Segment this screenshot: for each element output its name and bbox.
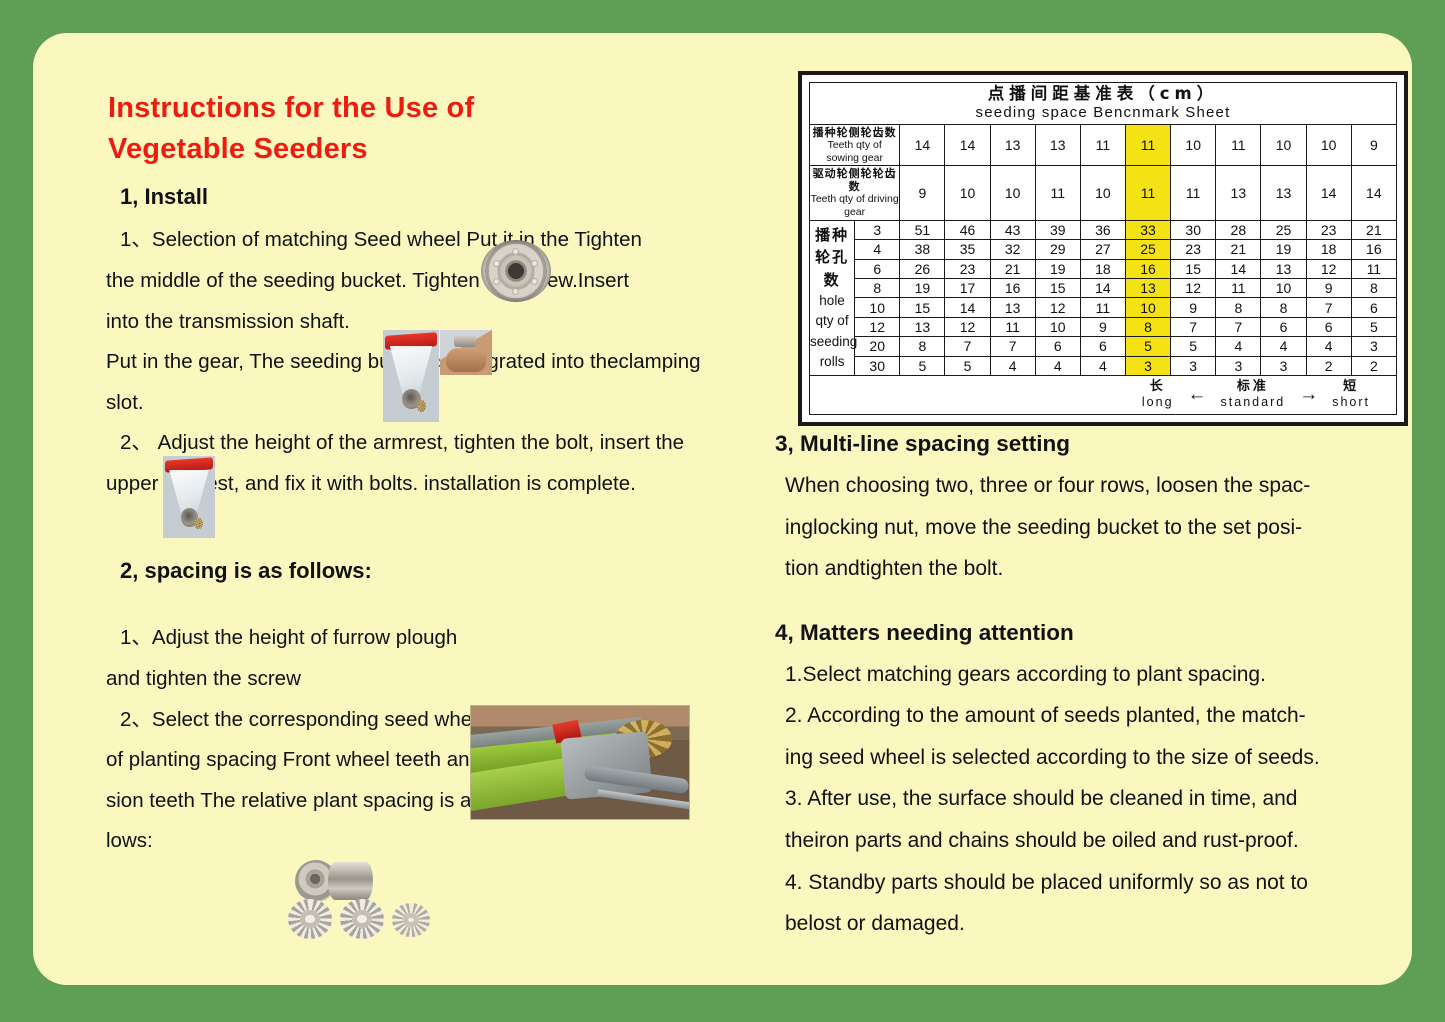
- table-row-label: 播种轮侧轮齿数Teeth qty of sowing gear: [810, 125, 900, 166]
- table-row: 62623211918161514131211: [810, 259, 1397, 278]
- seeding-space-benchmark-table: 点播间距基准表（cm）seeding space Bencnmark Sheet…: [798, 71, 1408, 426]
- table-cell: 26: [900, 259, 945, 278]
- furrow-plough-machine-photo: [470, 705, 690, 820]
- table-cell: 33: [1125, 220, 1170, 239]
- table-footer-row: 长long←标准standard→短short: [810, 376, 1397, 415]
- table-cell: 23: [945, 259, 990, 278]
- attention-line-6: 4. Standby parts should be placed unifor…: [785, 862, 1435, 904]
- legend-standard-cn: 标准: [1221, 380, 1286, 395]
- table-row: 播种轮孔数hole qty of seeding rolls3514643393…: [810, 220, 1397, 239]
- table-row-key: 8: [855, 278, 900, 297]
- table-cell: 23: [1171, 240, 1216, 259]
- table-cell: 25: [1125, 240, 1170, 259]
- table-cell: 18: [1080, 259, 1125, 278]
- table-cell: 8: [1125, 317, 1170, 336]
- table-cell: 10: [1261, 278, 1306, 297]
- table-cell: 11: [1216, 278, 1261, 297]
- table-title-cn: 点播间距基准表（cm）: [810, 84, 1396, 105]
- table-cell: 10: [1080, 165, 1125, 220]
- table-cell: 15: [1171, 259, 1216, 278]
- table-cell: 7: [1216, 317, 1261, 336]
- table-cell: 8: [1261, 298, 1306, 317]
- table-cell: 3: [1216, 356, 1261, 375]
- table-cell: 7: [990, 337, 1035, 356]
- table-cell: 13: [1216, 165, 1261, 220]
- attention-line-1: 1.Select matching gears according to pla…: [785, 654, 1435, 696]
- benchmark-table: 点播间距基准表（cm）seeding space Bencnmark Sheet…: [809, 82, 1397, 415]
- table-cell: 27: [1080, 240, 1125, 259]
- table-cell: 7: [1306, 298, 1351, 317]
- table-row: 1015141312111098876: [810, 298, 1397, 317]
- table-cell: 7: [945, 337, 990, 356]
- seeding-bucket-photo-1: [383, 330, 439, 422]
- table-cell: 6: [1351, 298, 1396, 317]
- table-cell: 5: [1171, 337, 1216, 356]
- table-cell: 6: [1306, 317, 1351, 336]
- table-cell: 29: [1035, 240, 1080, 259]
- table-cell: 21: [1216, 240, 1261, 259]
- table-cell: 12: [1035, 298, 1080, 317]
- table-cell: 6: [1080, 337, 1125, 356]
- attention-body: 1.Select matching gears according to pla…: [785, 654, 1435, 945]
- table-cell: 14: [945, 298, 990, 317]
- sprocket-gears-photo: [288, 899, 448, 939]
- table-cell: 4: [1080, 356, 1125, 375]
- table-row-key: 3: [855, 220, 900, 239]
- table-cell: 11: [1080, 125, 1125, 166]
- table-cell: 16: [1125, 259, 1170, 278]
- table-cell: 2: [1351, 356, 1396, 375]
- table-cell: 51: [900, 220, 945, 239]
- sprocket-icon: [392, 903, 430, 937]
- table-cell: 10: [1306, 125, 1351, 166]
- table-cell: 3: [1351, 337, 1396, 356]
- table-cell: 10: [1035, 317, 1080, 336]
- right-arrow-icon: →: [1295, 385, 1322, 404]
- table-cell: 36: [1080, 220, 1125, 239]
- hand-tightening-screw-photo: [440, 330, 492, 375]
- table-cell: 14: [945, 125, 990, 166]
- spacing-line-2: and tighten the screw: [106, 659, 750, 700]
- table-cell: 6: [1261, 317, 1306, 336]
- table-cell: 11: [1035, 165, 1080, 220]
- section-heading-multiline: 3, Multi-line spacing setting: [775, 431, 1435, 457]
- table-cell: 13: [900, 317, 945, 336]
- table-title-en: seeding space Bencnmark Sheet: [810, 104, 1396, 123]
- table-row-key: 10: [855, 298, 900, 317]
- table-cell: 14: [1080, 278, 1125, 297]
- table-cell: 4: [1035, 356, 1080, 375]
- table-cell: 6: [1035, 337, 1080, 356]
- table-cell: 9: [900, 165, 945, 220]
- table-footer-cell: 长long←标准standard→短short: [810, 376, 1397, 415]
- table-cell: 11: [1080, 298, 1125, 317]
- table-row-label: 驱动轮侧轮轮齿数Teeth qty of driving gear: [810, 165, 900, 220]
- table-row: 43835322927252321191816: [810, 240, 1397, 259]
- table-cell: 13: [1125, 278, 1170, 297]
- attention-line-2: 2. According to the amount of seeds plan…: [785, 695, 1435, 737]
- table-cell: 15: [1035, 278, 1080, 297]
- attention-line-3: ing seed wheel is selected according to …: [785, 737, 1435, 779]
- table-cell: 3: [1125, 356, 1170, 375]
- row-label-en: Teeth qty of sowing gear: [810, 139, 899, 164]
- table-cell: 2: [1306, 356, 1351, 375]
- multiline-line-1: When choosing two, three or four rows, l…: [785, 465, 1435, 507]
- table-row-key: 12: [855, 317, 900, 336]
- section-heading-attention: 4, Matters needing attention: [775, 620, 1435, 646]
- sprocket-icon: [288, 899, 332, 939]
- table-cell: 10: [1125, 298, 1170, 317]
- table-cell: 5: [1125, 337, 1170, 356]
- table-cell: 35: [945, 240, 990, 259]
- table-cell: 5: [900, 356, 945, 375]
- spacing-line-6: lows:: [106, 821, 750, 862]
- table-cell: 8: [900, 337, 945, 356]
- table-header-row: 驱动轮侧轮轮齿数Teeth qty of driving gear9101011…: [810, 165, 1397, 220]
- legend-long-cn: 长: [1142, 380, 1174, 395]
- table-cell: 8: [1351, 278, 1396, 297]
- table-cell: 39: [1035, 220, 1080, 239]
- seeding-bucket-photo-2: [163, 456, 215, 538]
- table-cell: 9: [1080, 317, 1125, 336]
- table-cell: 10: [1261, 125, 1306, 166]
- table-cell: 46: [945, 220, 990, 239]
- table-cell: 15: [900, 298, 945, 317]
- table-row: 3055444333322: [810, 356, 1397, 375]
- section-heading-spacing: 2, spacing is as follows:: [120, 558, 750, 584]
- row-label-cn: 驱动轮侧轮轮齿数: [810, 167, 899, 193]
- table-cell: 10: [990, 165, 1035, 220]
- table-row: 2087766554443: [810, 337, 1397, 356]
- table-cell: 10: [945, 165, 990, 220]
- attention-line-7: belost or damaged.: [785, 903, 1435, 945]
- table-cell: 12: [1306, 259, 1351, 278]
- table-cell: 21: [990, 259, 1035, 278]
- table-cell: 16: [990, 278, 1035, 297]
- row-label-cn: 播种轮侧轮齿数: [810, 126, 899, 139]
- multiline-line-2: inglocking nut, move the seeding bucket …: [785, 507, 1435, 549]
- spacing-line-1: 1、Adjust the height of furrow plough: [106, 618, 750, 659]
- table-cell: 16: [1351, 240, 1396, 259]
- table-cell: 11: [1171, 165, 1216, 220]
- seed-wheel-roller-photo: [295, 859, 373, 903]
- legend-long: 长long: [1142, 380, 1174, 409]
- table-cell: 30: [1171, 220, 1216, 239]
- table-cell: 23: [1306, 220, 1351, 239]
- table-cell: 18: [1306, 240, 1351, 259]
- table-cell: 4: [1216, 337, 1261, 356]
- multiline-body: When choosing two, three or four rows, l…: [785, 465, 1435, 590]
- table-row-key: 20: [855, 337, 900, 356]
- side-label-cn: 播种轮孔数: [810, 224, 854, 292]
- table-cell: 19: [1035, 259, 1080, 278]
- legend-standard: 标准standard: [1221, 380, 1286, 409]
- table-cell: 10: [1171, 125, 1216, 166]
- table-cell: 11: [1216, 125, 1261, 166]
- table-cell: 13: [990, 298, 1035, 317]
- table-cell: 13: [1261, 259, 1306, 278]
- attention-line-4: 3. After use, the surface should be clea…: [785, 778, 1435, 820]
- table-cell: 13: [1035, 125, 1080, 166]
- table-cell: 19: [1261, 240, 1306, 259]
- table-cell: 13: [1261, 165, 1306, 220]
- table-cell: 11: [1351, 259, 1396, 278]
- table-cell: 19: [900, 278, 945, 297]
- table-cell: 21: [1351, 220, 1396, 239]
- table-row: 12131211109877665: [810, 317, 1397, 336]
- table-row-key: 30: [855, 356, 900, 375]
- table-cell: 3: [1171, 356, 1216, 375]
- table-cell: 5: [1351, 317, 1396, 336]
- table-row-key: 4: [855, 240, 900, 259]
- table-cell: 5: [945, 356, 990, 375]
- legend-short: 短short: [1332, 380, 1370, 409]
- table-cell: 3: [1261, 356, 1306, 375]
- table-side-label: 播种轮孔数hole qty of seeding rolls: [810, 220, 855, 376]
- legend-standard-en: standard: [1221, 395, 1286, 409]
- table-cell: 14: [900, 125, 945, 166]
- install-line-1: 1、Selection of matching Seed wheel Put i…: [106, 220, 750, 261]
- table-cell: 14: [1351, 165, 1396, 220]
- legend-long-en: long: [1142, 395, 1174, 409]
- table-cell: 4: [1306, 337, 1351, 356]
- page-title: Instructions for the Use of Vegetable Se…: [108, 88, 750, 170]
- table-row-key: 6: [855, 259, 900, 278]
- table-cell: 17: [945, 278, 990, 297]
- table-cell: 11: [990, 317, 1035, 336]
- legend-short-en: short: [1332, 395, 1370, 409]
- table-cell: 28: [1216, 220, 1261, 239]
- legend-short-cn: 短: [1332, 380, 1370, 395]
- table-title-row: 点播间距基准表（cm）seeding space Bencnmark Sheet: [810, 83, 1397, 125]
- table-cell: 14: [1216, 259, 1261, 278]
- table-cell: 9: [1306, 278, 1351, 297]
- section-heading-install: 1, Install: [120, 184, 750, 210]
- table-cell: 4: [990, 356, 1035, 375]
- table-cell: 13: [990, 125, 1035, 166]
- table-cell: 11: [1125, 165, 1170, 220]
- table-cell: 8: [1216, 298, 1261, 317]
- table-cell: 12: [945, 317, 990, 336]
- table-cell: 12: [1171, 278, 1216, 297]
- row-label-en: Teeth qty of driving gear: [810, 193, 899, 218]
- table-cell: 9: [1351, 125, 1396, 166]
- table-cell: 9: [1171, 298, 1216, 317]
- table-title-cell: 点播间距基准表（cm）seeding space Bencnmark Sheet: [810, 83, 1397, 125]
- seed-wheel-photo: [481, 240, 551, 302]
- table-cell: 25: [1261, 220, 1306, 239]
- install-line-2: the middle of the seeding bucket. Tighte…: [106, 261, 750, 302]
- table-cell: 11: [1125, 125, 1170, 166]
- table-row: 819171615141312111098: [810, 278, 1397, 297]
- side-label-en: hole qty of seeding rolls: [810, 291, 854, 372]
- sprocket-icon: [340, 899, 384, 939]
- table-cell: 7: [1171, 317, 1216, 336]
- table-cell: 43: [990, 220, 1035, 239]
- table-header-row: 播种轮侧轮齿数Teeth qty of sowing gear141413131…: [810, 125, 1397, 166]
- content-panel: Instructions for the Use of Vegetable Se…: [33, 33, 1412, 985]
- instruction-sheet: Instructions for the Use of Vegetable Se…: [0, 0, 1445, 1022]
- attention-line-5: theiron parts and chains should be oiled…: [785, 820, 1435, 862]
- left-arrow-icon: ←: [1184, 385, 1211, 404]
- table-cell: 38: [900, 240, 945, 259]
- table-cell: 4: [1261, 337, 1306, 356]
- right-column: 3, Multi-line spacing setting When choos…: [775, 431, 1435, 971]
- table-cell: 14: [1306, 165, 1351, 220]
- table-cell: 32: [990, 240, 1035, 259]
- multiline-line-3: tion andtighten the bolt.: [785, 548, 1435, 590]
